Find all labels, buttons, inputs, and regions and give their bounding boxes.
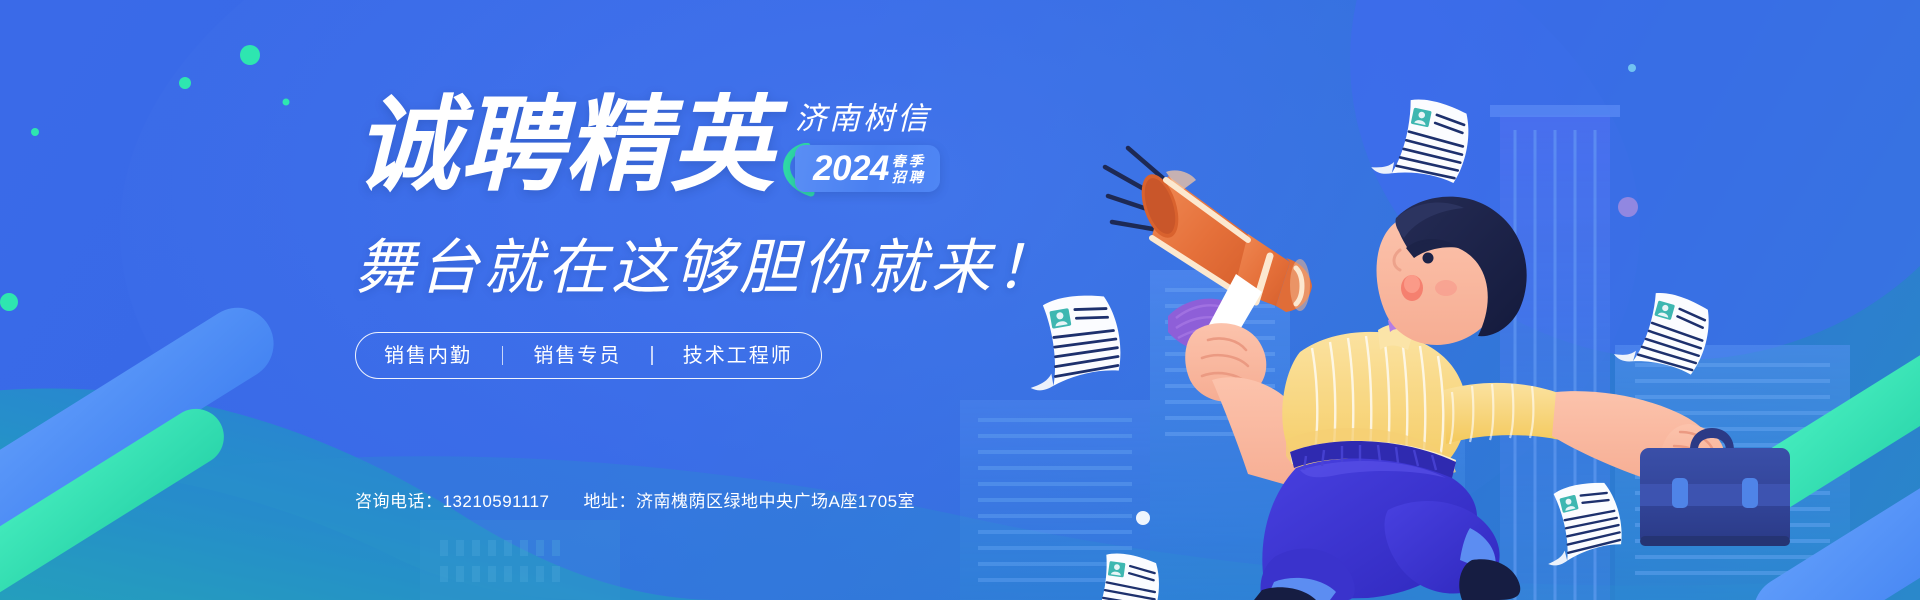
badge-year: 2024 <box>813 151 889 187</box>
job-separator <box>502 346 503 365</box>
job-tag-0[interactable]: 销售内勤 <box>384 345 472 367</box>
badge-body: 2024 春季 招聘 <box>795 145 940 192</box>
shoe-front <box>1459 559 1520 600</box>
banner-text-content: 诚聘精英 济南树信 2024 春季 招聘 舞台就在 <box>355 92 1115 512</box>
contact-info: 咨询电话：13210591117 地址：济南槐荫区绿地中央广场A座1705室 <box>355 492 915 512</box>
sleeve-right <box>1444 383 1566 444</box>
badge-line-2: 招聘 <box>892 169 926 185</box>
contact-address: 地址：济南槐荫区绿地中央广场A座1705室 <box>583 492 915 512</box>
brand-name: 济南树信 <box>795 102 931 136</box>
badge-subtext: 春季 招聘 <box>892 153 926 185</box>
job-tag-2[interactable]: 技术工程师 <box>683 345 793 367</box>
page-title: 诚聘精英 <box>355 92 775 200</box>
headline-row: 诚聘精英 济南树信 2024 春季 招聘 <box>355 92 1115 210</box>
badge-line-1: 春季 <box>892 153 926 169</box>
head <box>1377 197 1527 345</box>
job-positions-pill[interactable]: 销售内勤 销售专员 技术工程师 <box>355 332 822 379</box>
job-tag-1[interactable]: 销售专员 <box>533 345 621 367</box>
contact-phone: 咨询电话：13210591117 <box>355 492 549 512</box>
brand-block: 济南树信 2024 春季 招聘 <box>795 92 940 195</box>
recruitment-badge: 2024 春季 招聘 <box>795 145 940 195</box>
page-subtitle: 舞台就在这够胆你就来！ <box>355 232 1115 304</box>
job-separator <box>651 346 652 365</box>
recruitment-banner: 诚聘精英 济南树信 2024 春季 招聘 舞台就在 <box>0 0 1920 600</box>
